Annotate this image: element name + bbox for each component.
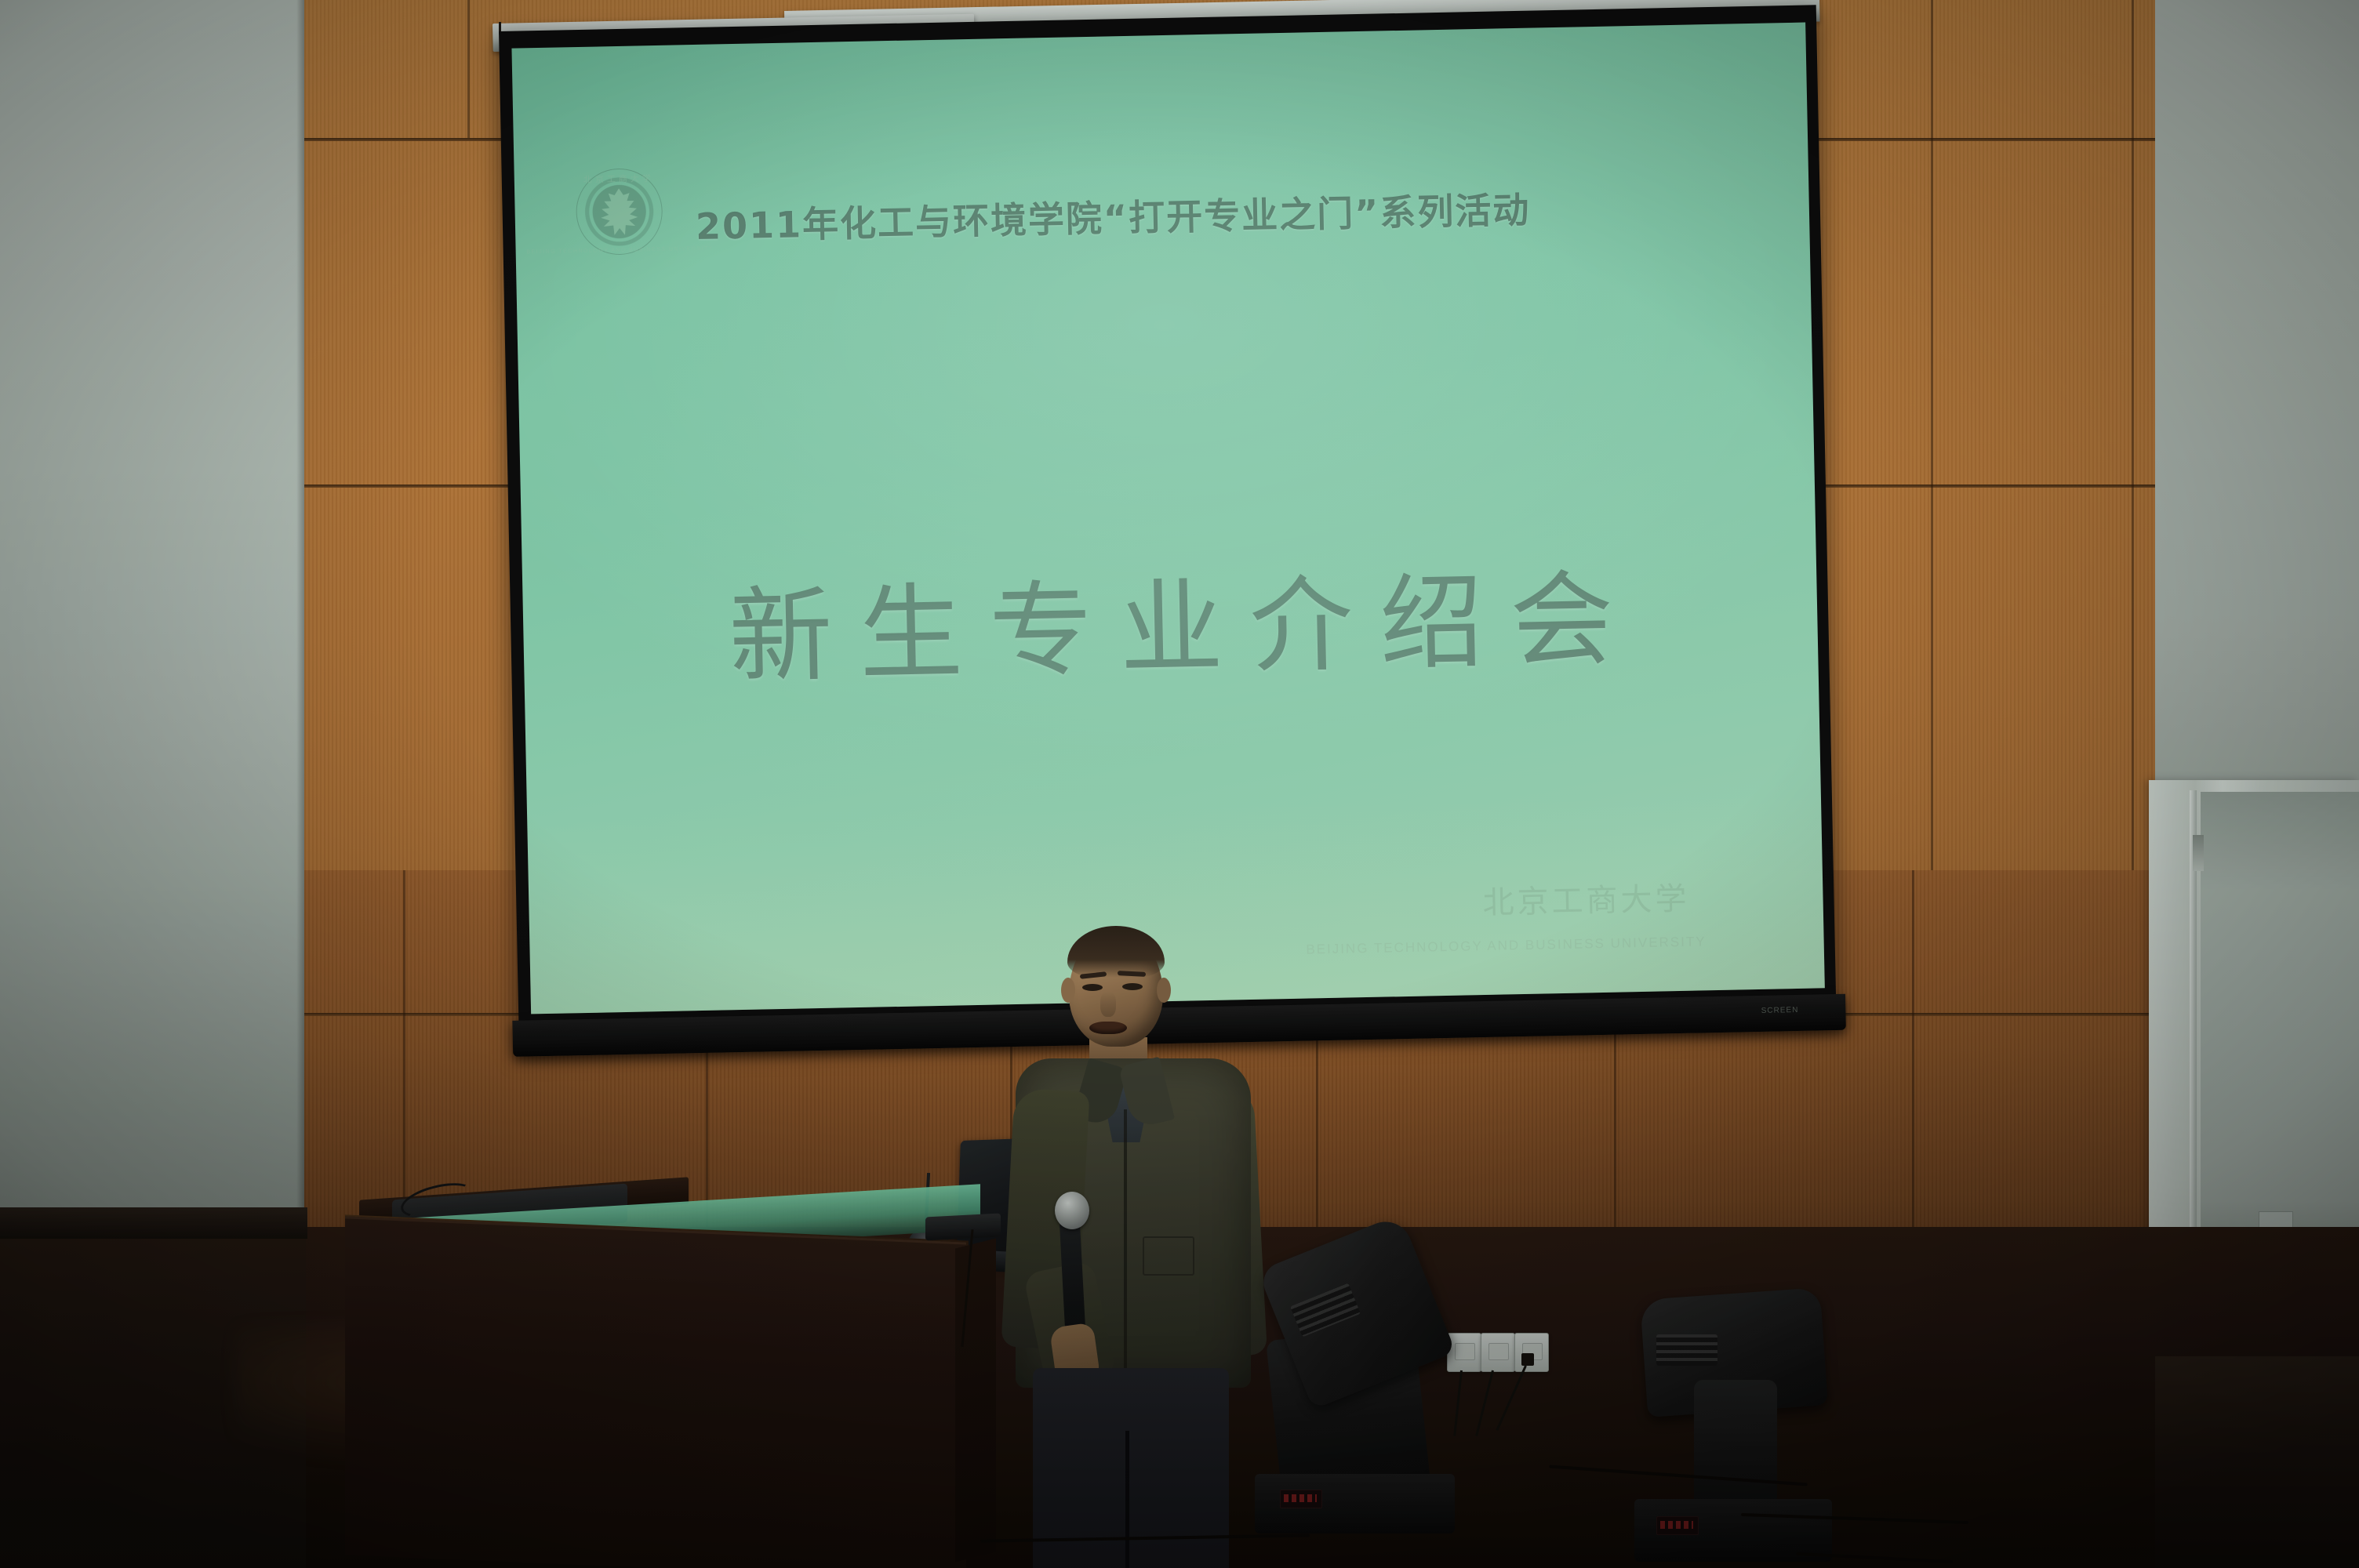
podium-side-panel (955, 1239, 996, 1563)
presentation-slide: 北京工商大学 BEIJING TECHNOLOGY AND BUSINESS U… (511, 23, 1824, 1014)
moving-head-light-left (1263, 1239, 1443, 1537)
moving-head-light-right (1639, 1294, 1827, 1568)
wood-joint (2132, 0, 2134, 870)
projection-screen: 北京工商大学 BEIJING TECHNOLOGY AND BUSINESS U… (499, 5, 1837, 1081)
wall-socket-center-3[interactable] (1514, 1333, 1549, 1372)
handheld-microphone-icon[interactable] (1055, 1192, 1089, 1229)
university-crest-icon: 北京工商大学 BEIJING TECHNOLOGY AND BUSINESS U… (570, 163, 667, 260)
door-hinge-icon (2193, 835, 2204, 871)
baseboard (0, 1207, 307, 1239)
presenter-jacket-pocket (1143, 1236, 1194, 1276)
screen-bar-brand-label: SCREEN (1761, 1006, 1799, 1015)
podium-front-panel (345, 1216, 966, 1568)
crest-ring-text-cn: 北京工商大学 (583, 172, 654, 186)
slide-subtitle: 2011年化工与环境学院“打开专业之门”系列活动 (695, 182, 1531, 250)
lecture-hall-photograph: SCREEN 北京工商大学 BEIJING TECHNOLOGY AND BUS… (0, 0, 2359, 1568)
presenter-eye-right (1122, 983, 1143, 990)
light-led-display (1280, 1490, 1322, 1508)
presenter-jacket-placket (1124, 1109, 1127, 1368)
floor-right-section (2155, 1356, 2359, 1568)
screen-black-border: 北京工商大学 BEIJING TECHNOLOGY AND BUSINESS U… (499, 5, 1837, 1046)
presenter-hair (1067, 926, 1165, 978)
podium-side-device (925, 1213, 1001, 1240)
light-vent (1656, 1334, 1717, 1366)
slide-watermark: 北京工商大学 (1482, 873, 1690, 923)
presenter-nose (1100, 992, 1116, 1017)
wood-joint (467, 0, 470, 138)
presenter-mouth (1089, 1022, 1127, 1034)
left-white-wall (0, 0, 304, 1227)
socket-plug (1521, 1353, 1534, 1366)
presenter-ear-right (1157, 978, 1171, 1003)
slide-watermark-subtext: BEIJING TECHNOLOGY AND BUSINESS UNIVERSI… (1306, 934, 1707, 957)
screen-surface: 北京工商大学 BEIJING TECHNOLOGY AND BUSINESS U… (511, 23, 1824, 1014)
wall-socket-center-2[interactable] (1481, 1333, 1515, 1372)
slide-title: 新生专业介绍会 (597, 533, 1745, 706)
wall-socket-center-1[interactable] (1447, 1333, 1481, 1372)
presenter-ear-left (1061, 978, 1075, 1003)
lectern-podium[interactable] (345, 1162, 996, 1568)
presenter (1008, 929, 1259, 1568)
wood-joint (1931, 0, 1933, 870)
light-yoke (1694, 1380, 1777, 1515)
presenter-eye-left (1082, 984, 1103, 991)
light-led-display (1656, 1516, 1699, 1535)
presenter-leg-seam (1125, 1431, 1129, 1568)
